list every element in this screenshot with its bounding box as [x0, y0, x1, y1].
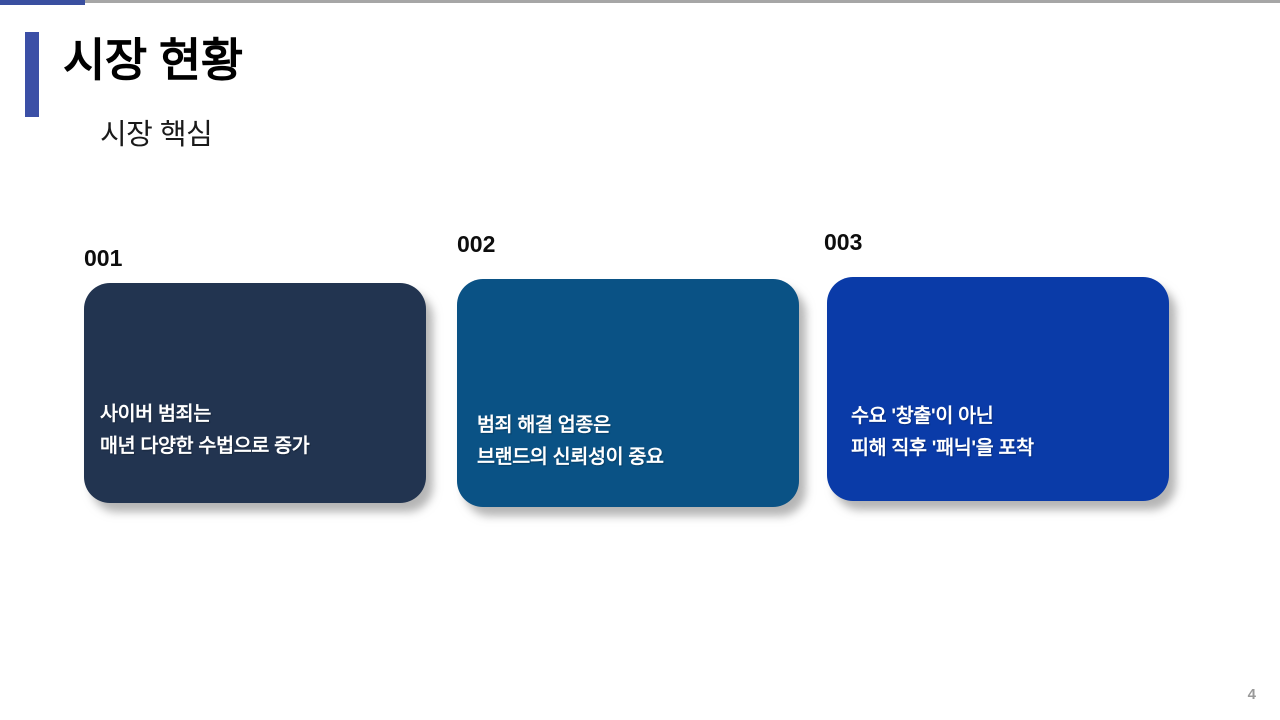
card-number-label: 003 [824, 231, 862, 254]
card-text-line-2: 매년 다양한 수법으로 증가 [100, 431, 309, 463]
page-number: 4 [1248, 686, 1256, 703]
card-text: 범죄 해결 업종은 브랜드의 신뢰성이 중요 [477, 410, 664, 473]
card-text-line-2: 브랜드의 신뢰성이 중요 [477, 442, 664, 474]
card-body[interactable]: 수요 '창출'이 아닌 피해 직후 '패닉'을 포착 [827, 277, 1169, 501]
card-text: 수요 '창출'이 아닌 피해 직후 '패닉'을 포착 [851, 401, 1034, 464]
key-points-card-group: 001 사이버 범죄는 매년 다양한 수법으로 증가 002 범죄 해결 업종은… [0, 0, 1280, 720]
slide-canvas: 시장 현황 시장 핵심 001 사이버 범죄는 매년 다양한 수법으로 증가 0… [0, 0, 1280, 720]
card-text: 사이버 범죄는 매년 다양한 수법으로 증가 [100, 399, 309, 462]
card-number-label: 001 [84, 247, 122, 270]
card-number-label: 002 [457, 233, 495, 256]
card-body[interactable]: 범죄 해결 업종은 브랜드의 신뢰성이 중요 [457, 279, 799, 507]
card-text-line-2: 피해 직후 '패닉'을 포착 [851, 433, 1034, 465]
card-text-line-1: 범죄 해결 업종은 [477, 410, 664, 442]
card-body[interactable]: 사이버 범죄는 매년 다양한 수법으로 증가 [84, 283, 426, 503]
card-text-line-1: 사이버 범죄는 [100, 399, 309, 431]
card-text-line-1: 수요 '창출'이 아닌 [851, 401, 1034, 433]
